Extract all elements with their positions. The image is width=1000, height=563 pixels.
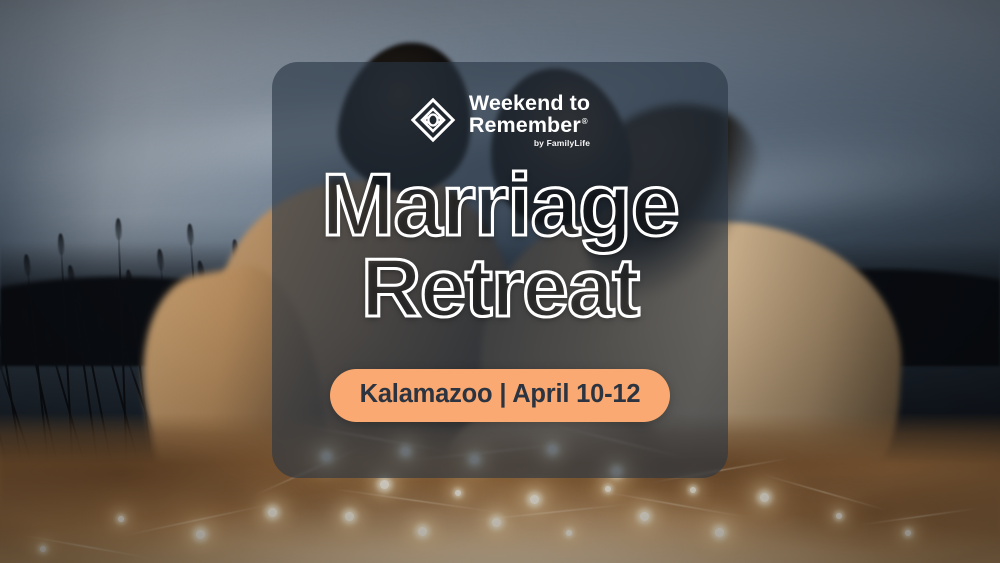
weekend-to-remember-diamond-logo-icon <box>410 97 456 143</box>
headline-line-1: Marriage <box>321 164 678 247</box>
headline: Marriage Retreat <box>321 164 678 327</box>
registered-trademark-icon: ® <box>582 117 588 126</box>
brand-lockup: Weekend to Remember® by FamilyLife <box>410 92 590 148</box>
brand-line-2-text: Remember <box>469 113 581 137</box>
brand-tagline: by FamilyLife <box>469 139 590 148</box>
headline-line-2: Retreat <box>321 249 678 327</box>
promo-graphic: Weekend to Remember® by FamilyLife Marri… <box>0 0 1000 563</box>
event-location-date-badge[interactable]: Kalamazoo | April 10-12 <box>330 369 671 422</box>
promo-card: Weekend to Remember® by FamilyLife Marri… <box>272 62 728 478</box>
brand-line-2: Remember® <box>469 114 590 136</box>
brand-line-1: Weekend to <box>469 92 590 114</box>
brand-wordmark: Weekend to Remember® by FamilyLife <box>469 92 590 148</box>
